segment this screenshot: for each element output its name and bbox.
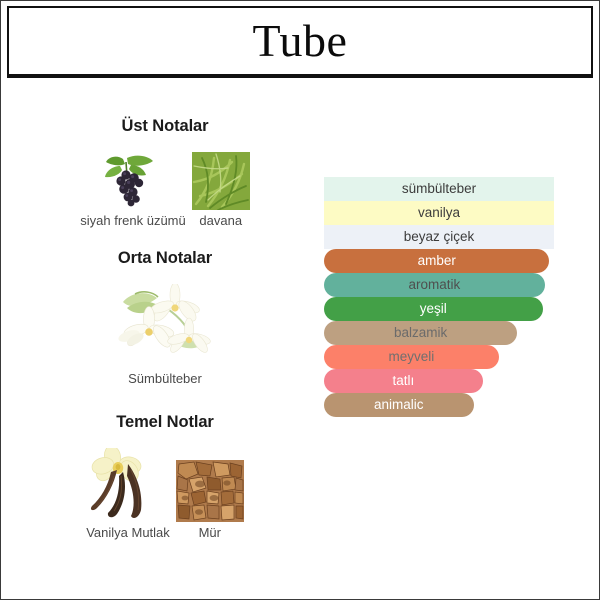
- note-group-middle: Orta Notalar: [15, 249, 315, 386]
- note-items: Sümbülteber: [15, 284, 315, 386]
- note-items: siyah frenk üzümü: [15, 152, 315, 228]
- blackcurrant-icon: [97, 152, 169, 210]
- note-caption: Mür: [199, 525, 221, 540]
- accord-row: animalic: [324, 393, 554, 417]
- note-item-davana: davana: [192, 152, 250, 228]
- accord-bar: yeşil: [324, 297, 543, 321]
- davana-icon: [192, 152, 250, 210]
- accord-row: meyveli: [324, 345, 554, 369]
- accord-row: balzamik: [324, 321, 554, 345]
- note-caption: Sümbülteber: [128, 371, 202, 386]
- accord-bar: aromatik: [324, 273, 545, 297]
- header-box: Tube: [7, 6, 593, 78]
- accord-label: sümbülteber: [402, 182, 476, 197]
- page-title: Tube: [253, 18, 348, 64]
- note-item-tuberose: Sümbülteber: [113, 284, 217, 386]
- accord-row: sümbülteber: [324, 177, 554, 201]
- note-group-heading: Orta Notalar: [15, 249, 315, 268]
- note-group-top: Üst Notalar: [15, 117, 315, 228]
- note-caption: siyah frenk üzümü: [80, 213, 186, 228]
- accord-bar: beyaz çiçek: [324, 225, 554, 249]
- myrrh-icon: [176, 460, 244, 522]
- accord-label: yeşil: [420, 302, 447, 317]
- note-item-blackcurrant: siyah frenk üzümü: [80, 152, 186, 228]
- note-caption: davana: [199, 213, 242, 228]
- accord-bar: animalic: [324, 393, 474, 417]
- accord-label: amber: [418, 254, 456, 269]
- accord-label: meyveli: [389, 350, 435, 365]
- accord-bar: tatlı: [324, 369, 483, 393]
- accord-bar: sümbülteber: [324, 177, 554, 201]
- note-group-base: Temel Notlar: [15, 413, 315, 540]
- accord-label: tatlı: [392, 374, 414, 389]
- accord-label: animalic: [374, 398, 424, 413]
- accord-row: tatlı: [324, 369, 554, 393]
- vanilla-icon: [87, 448, 169, 522]
- accord-chart: sümbültebervanilyabeyaz çiçekamberaromat…: [324, 177, 554, 417]
- accord-bar: amber: [324, 249, 549, 273]
- accord-label: vanilya: [418, 206, 460, 221]
- perfume-note-pyramid-page: Tube Üst Notalar: [0, 0, 600, 600]
- note-group-heading: Temel Notlar: [15, 413, 315, 432]
- note-group-heading: Üst Notalar: [15, 117, 315, 136]
- accord-bar: balzamik: [324, 321, 517, 345]
- tuberose-icon: [113, 284, 217, 368]
- accord-row: vanilya: [324, 201, 554, 225]
- accord-bar: meyveli: [324, 345, 499, 369]
- accord-row: yeşil: [324, 297, 554, 321]
- accord-row: beyaz çiçek: [324, 225, 554, 249]
- note-items: Vanilya Mutlak: [15, 448, 315, 540]
- accord-row: amber: [324, 249, 554, 273]
- note-caption: Vanilya Mutlak: [86, 525, 170, 540]
- accord-label: balzamik: [394, 326, 447, 341]
- accord-bar: vanilya: [324, 201, 554, 225]
- note-item-myrrh: Mür: [176, 460, 244, 540]
- notes-column: Üst Notalar: [15, 93, 315, 583]
- accord-row: aromatik: [324, 273, 554, 297]
- accord-label: aromatik: [409, 278, 461, 293]
- note-item-vanilla: Vanilya Mutlak: [86, 448, 170, 540]
- accord-label: beyaz çiçek: [404, 230, 475, 245]
